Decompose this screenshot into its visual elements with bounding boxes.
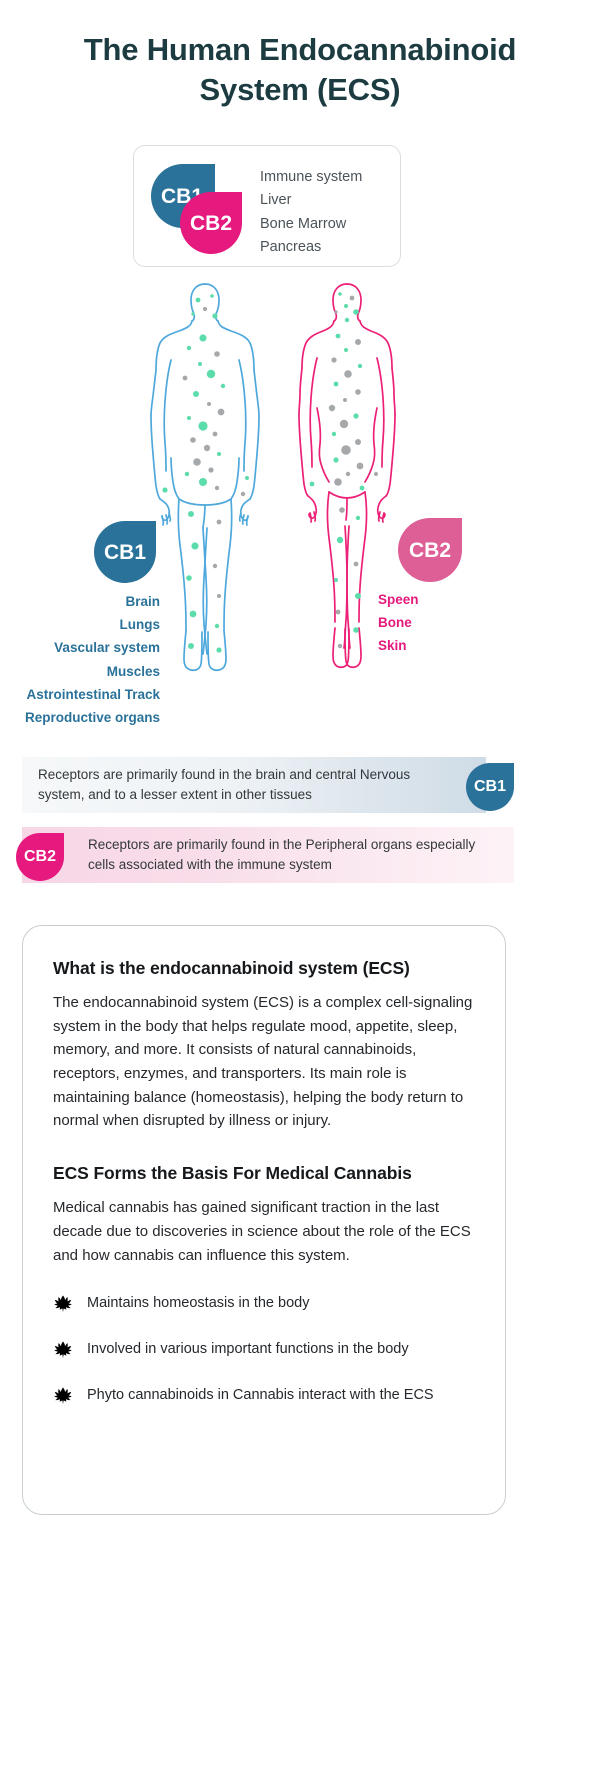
bullet-list: Maintains homeostasis in the body Involv… — [53, 1293, 475, 1405]
list-item-label: Involved in various important functions … — [87, 1341, 409, 1357]
info-card: What is the endocannabinoid system (ECS)… — [22, 925, 506, 1515]
cb2-organ-item: Skin — [378, 634, 528, 657]
cannabis-leaf-icon — [53, 1293, 73, 1313]
list-item-label: Phyto cannabinoids in Cannabis interact … — [87, 1387, 434, 1403]
cb2-organ-item: Speen — [378, 588, 528, 611]
info-heading-2: ECS Forms the Basis For Medical Cannabis — [53, 1163, 475, 1184]
cb2-organ-list: Speen Bone Skin — [378, 588, 528, 658]
legend-organ-item: Bone Marrow — [260, 213, 362, 236]
info-heading-1: What is the endocannabinoid system (ECS) — [53, 958, 475, 979]
list-item: Maintains homeostasis in the body — [53, 1293, 475, 1313]
legend-organ-item: Liver — [260, 189, 362, 212]
cb1-callout-badge: CB1 — [466, 763, 514, 811]
legend-organ-item: Pancreas — [260, 236, 362, 259]
cb1-organ-list: Brain Lungs Vascular system Muscles Astr… — [0, 590, 160, 729]
cb1-figure-badge: CB1 — [94, 521, 156, 583]
cannabis-leaf-icon — [53, 1385, 73, 1405]
cb1-organ-item: Brain — [0, 590, 160, 613]
list-item: Involved in various important functions … — [53, 1339, 475, 1359]
receptor-dots-female — [310, 292, 378, 648]
cb1-callout-text: Receptors are primarily found in the bra… — [22, 765, 486, 806]
list-item: Phyto cannabinoids in Cannabis interact … — [53, 1385, 475, 1405]
cb1-organ-item: Vascular system — [0, 636, 160, 659]
cb2-callout-badge: CB2 — [16, 833, 64, 881]
legend-badge-group: CB1 CB2 — [151, 164, 259, 256]
cb1-callout-bar: Receptors are primarily found in the bra… — [22, 757, 486, 813]
page-title: The Human Endocannabinoid System (ECS) — [0, 0, 600, 109]
cannabis-leaf-icon — [53, 1339, 73, 1359]
legend-card: CB1 CB2 Immune system Liver Bone Marrow … — [133, 145, 401, 267]
cb2-figure-badge: CB2 — [398, 518, 462, 582]
legend-organ-list: Immune system Liver Bone Marrow Pancreas — [260, 166, 362, 260]
info-paragraph-2: Medical cannabis has gained significant … — [53, 1196, 475, 1267]
cb1-organ-item: Astrointestinal Track — [0, 683, 160, 706]
cb2-callout-text: Receptors are primarily found in the Per… — [22, 835, 514, 876]
cb2-callout-bar: CB2 Receptors are primarily found in the… — [22, 827, 514, 883]
cb1-organ-item: Reproductive organs — [0, 706, 160, 729]
male-figure-cb1 — [145, 278, 265, 698]
cb1-organ-item: Muscles — [0, 660, 160, 683]
list-item-label: Maintains homeostasis in the body — [87, 1295, 309, 1311]
legend-cb2-badge: CB2 — [180, 192, 242, 254]
legend-organ-item: Immune system — [260, 166, 362, 189]
receptor-dots-male — [162, 294, 249, 652]
cb1-organ-item: Lungs — [0, 613, 160, 636]
info-paragraph-1: The endocannabinoid system (ECS) is a co… — [53, 991, 475, 1133]
cb2-organ-item: Bone — [378, 611, 528, 634]
body-diagram: CB1 CB2 Brain Lungs Vascular system Musc… — [0, 278, 600, 708]
